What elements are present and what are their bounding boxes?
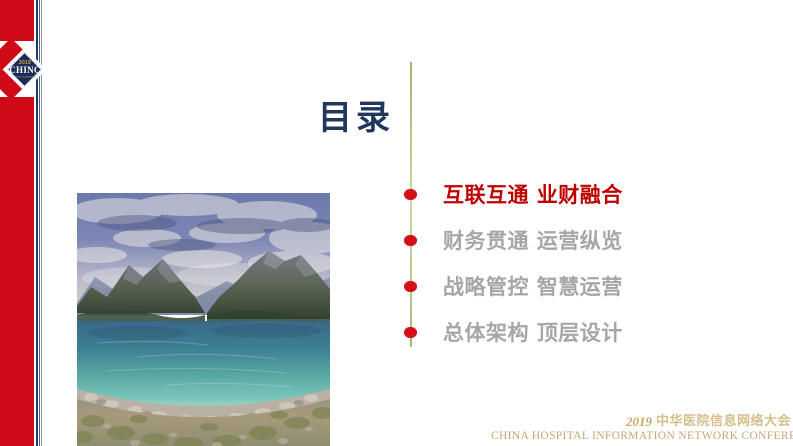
bullet-icon xyxy=(404,281,417,292)
landscape-photo xyxy=(77,193,330,446)
footer-brand: 2019 中华医院信息网络大会 CHINA HOSPITAL INFORMATI… xyxy=(491,411,791,442)
toc-item-label: 财务贯通 运营纵览 xyxy=(443,225,623,255)
footer-chinese-title: 中华医院信息网络大会 xyxy=(656,415,791,428)
toc-item-3[interactable]: 战略管控 智慧运营 xyxy=(405,264,623,308)
page-title: 目录 xyxy=(318,90,394,139)
logo-navy-diamond xyxy=(7,52,42,87)
chinc-logo: 2019 CHINC 中华医院信息网络大会 xyxy=(3,48,47,92)
table-of-contents: 互联互通 业财融合 财务贯通 运营纵览 战略管控 智慧运营 总体架构 顶层设计 xyxy=(405,62,735,347)
toc-item-2[interactable]: 财务贯通 运营纵览 xyxy=(405,218,623,262)
footer-english-title: CHINA HOSPITAL INFORMATION NETWORK CONFE… xyxy=(491,430,791,442)
toc-item-label: 互联互通 业财融合 xyxy=(443,179,623,209)
toc-item-1[interactable]: 互联互通 业财融合 xyxy=(405,172,623,216)
footer-chinese-row: 2019 中华医院信息网络大会 xyxy=(491,411,791,428)
footer-year: 2019 xyxy=(626,415,652,428)
bullet-icon xyxy=(404,327,417,338)
bullet-icon xyxy=(404,235,417,246)
bullet-icon xyxy=(404,189,417,200)
toc-item-label: 战略管控 智慧运营 xyxy=(443,271,623,301)
toc-item-label: 总体架构 顶层设计 xyxy=(443,317,623,347)
toc-item-4[interactable]: 总体架构 顶层设计 xyxy=(405,310,623,354)
